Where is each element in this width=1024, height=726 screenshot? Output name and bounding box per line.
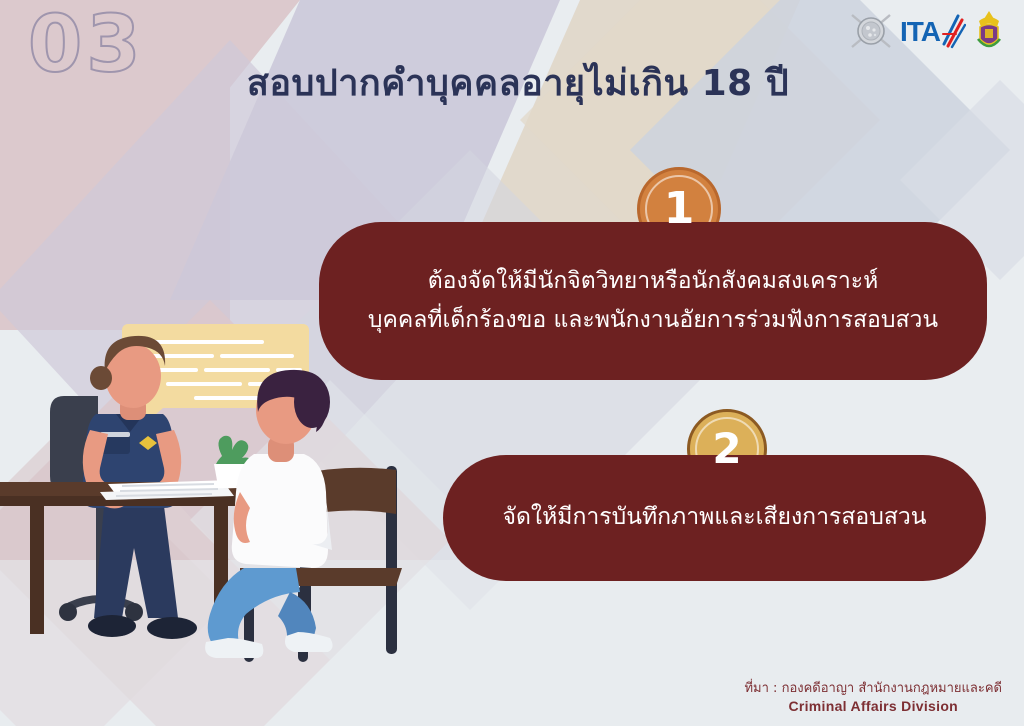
footer-credit: ที่มา : กองคดีอาญา สำนักงานกฎหมายและคดี … [744,680,1002,716]
royal-thai-police-emblem-icon [972,9,1006,53]
infographic-slide: 03 สอบปากคำบุคคลอายุไม่เกิน 18 ปี ITA [0,0,1024,726]
logo-cluster: ITA [848,8,1006,54]
item-1-line-1: ต้องจัดให้มีนักจิตวิทยาหรือนักสังคมสงเคร… [428,265,879,298]
ita-logo: ITA [900,10,966,52]
svg-text:ITA: ITA [900,16,941,47]
item-2-line-1: จัดให้มีการบันทึกภาพและเสียงการสอบสวน [502,501,926,534]
item-2-card: จัดให้มีการบันทึกภาพและเสียงการสอบสวน [443,455,986,581]
footer-source-th: ที่มา : กองคดีอาญา สำนักงานกฎหมายและคดี [744,680,1002,698]
page-title: สอบปากคำบุคคลอายุไม่เกิน 18 ปี [0,54,1024,111]
government-seal-logo-icon [848,9,894,53]
footer-source-en: Criminal Affairs Division [744,697,1002,716]
item-1-line-2: บุคคลที่เด็กร้องขอ และพนักงานอัยการร่วมฟ… [368,304,938,337]
police-interview-illustration [0,306,420,726]
